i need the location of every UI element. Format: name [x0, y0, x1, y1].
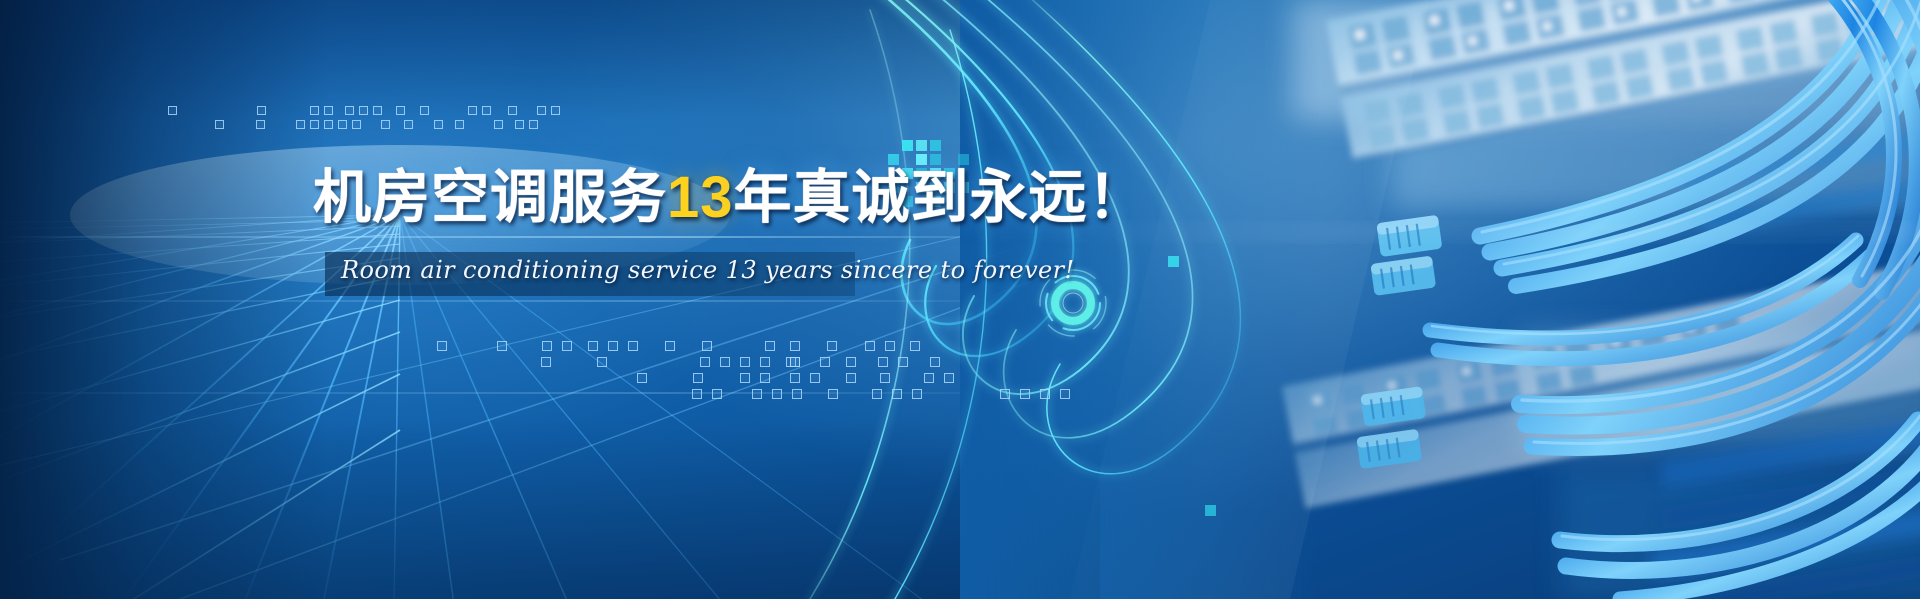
banner-headline: 机房空调服务13年真诚到永远！: [313, 168, 1147, 227]
hero-banner: 机房空调服务13年真诚到永远！ Room air conditioning se…: [0, 0, 1920, 599]
headline-suffix: 年真诚到永远！: [734, 163, 1147, 231]
hollow-square-pattern-bottom: [0, 0, 1920, 599]
headline-prefix: 机房空调服务: [313, 163, 667, 231]
banner-subtitle: Room air conditioning service 13 years s…: [341, 256, 1075, 284]
headline-highlight-number: 13: [667, 165, 734, 230]
